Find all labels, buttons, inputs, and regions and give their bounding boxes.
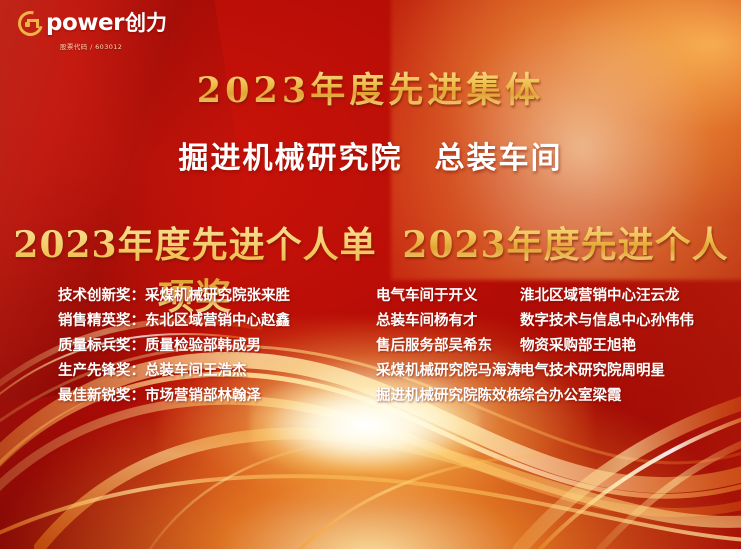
collective-winners: 掘进机械研究院 总装车间 — [0, 133, 741, 177]
advanced-individuals-list: 电气车间于开义 淮北区域营销中心汪云龙 总装车间杨有才 数字技术与信息中心孙伟伟… — [350, 283, 741, 408]
brand-name-cn: 创力 — [125, 13, 167, 34]
list-item: 售后服务部吴希东 物资采购部王旭艳 — [360, 333, 741, 358]
person-name: 综合办公室梁霞 — [520, 383, 735, 408]
person-name: 物资采购部王旭艳 — [520, 333, 735, 358]
list-item: 销售精英奖：东北区域营销中心赵鑫 — [58, 308, 350, 333]
person-name: 掘进机械研究院陈效栋 — [360, 383, 520, 408]
person-name: 售后服务部吴希东 — [360, 333, 520, 358]
section-heading-advanced-individuals: 2023年度先进个人 — [390, 216, 741, 268]
list-item: 电气车间于开义 淮北区域营销中心汪云龙 — [360, 283, 741, 308]
list-item: 总装车间杨有才 数字技术与信息中心孙伟伟 — [360, 308, 741, 333]
brand-name-en: power — [46, 12, 124, 35]
list-item: 掘进机械研究院陈效栋 综合办公室梁霞 — [360, 383, 741, 408]
individual-awards-list: 技术创新奖：采煤机械研究院张来胜 销售精英奖：东北区域营销中心赵鑫 质量标兵奖：… — [0, 283, 350, 408]
brand-logo: power 创力 股票代码 / 603012 — [18, 11, 167, 51]
person-name: 数字技术与信息中心孙伟伟 — [520, 308, 735, 333]
person-name: 淮北区域营销中心汪云龙 — [520, 283, 735, 308]
list-item: 技术创新奖：采煤机械研究院张来胜 — [58, 283, 350, 308]
list-item: 最佳新锐奖：市场营销部林翰泽 — [58, 383, 350, 408]
page-title: 2023年度先进集体 — [0, 62, 741, 113]
person-name: 采煤机械研究院马海涛 — [360, 358, 520, 383]
list-item: 采煤机械研究院马海涛 电气技术研究院周明星 — [360, 358, 741, 383]
person-name: 电气技术研究院周明星 — [520, 358, 735, 383]
list-item: 生产先锋奖：总装车间王浩杰 — [58, 358, 350, 383]
list-item: 质量标兵奖：质量检验部韩成男 — [58, 333, 350, 358]
person-name: 电气车间于开义 — [360, 283, 520, 308]
award-poster: power 创力 股票代码 / 603012 2023年度先进集体 掘进机械研究… — [0, 0, 741, 549]
person-name: 总装车间杨有才 — [360, 308, 520, 333]
power-plug-circle-icon — [18, 11, 43, 36]
winner-columns: 技术创新奖：采煤机械研究院张来胜 销售精英奖：东北区域营销中心赵鑫 质量标兵奖：… — [0, 283, 741, 408]
brand-stock-code: 股票代码 / 603012 — [60, 41, 122, 51]
